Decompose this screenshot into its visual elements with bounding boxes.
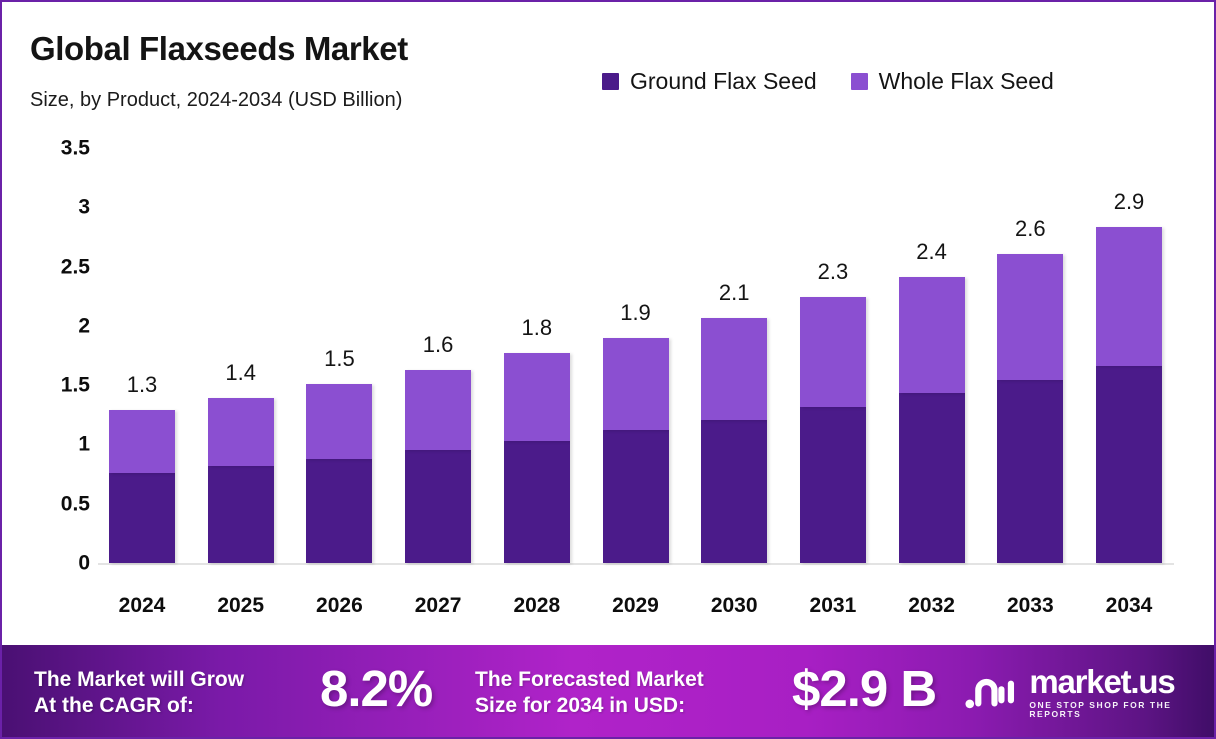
- x-axis-tick-label: 2024: [109, 595, 175, 616]
- bar-segment-ground-flax-seed[interactable]: [899, 393, 965, 563]
- bar-segment-whole-flax-seed[interactable]: [109, 410, 175, 473]
- chart-subtitle: Size, by Product, 2024-2034 (USD Billion…: [30, 90, 402, 110]
- bar-segment-whole-flax-seed[interactable]: [997, 254, 1063, 381]
- bar-segment-ground-flax-seed[interactable]: [208, 466, 274, 563]
- bar-segment-ground-flax-seed[interactable]: [504, 441, 570, 563]
- bar-segment-whole-flax-seed[interactable]: [603, 338, 669, 430]
- bar-total-label: 1.4: [208, 362, 274, 384]
- x-axis-tick-label: 2025: [208, 595, 274, 616]
- bar-group-2024[interactable]: [109, 410, 175, 563]
- legend-label: Ground Flax Seed: [630, 70, 817, 93]
- forecast-caption: The Forecasted Market Size for 2034 in U…: [475, 667, 704, 718]
- square-swatch-icon: [851, 73, 868, 90]
- bar-segment-whole-flax-seed[interactable]: [306, 384, 372, 459]
- bar-group-2033[interactable]: [997, 254, 1063, 563]
- bar-total-label: 1.3: [109, 374, 175, 396]
- bar-segment-ground-flax-seed[interactable]: [800, 407, 866, 564]
- chart-plot-area: 00.511.522.533.5 1.320241.420251.520261.…: [2, 132, 1216, 627]
- x-axis-tick-label: 2032: [899, 595, 965, 616]
- square-swatch-icon: [602, 73, 619, 90]
- chart-card: Global Flaxseeds Market Size, by Product…: [0, 0, 1216, 739]
- x-axis-tick-label: 2026: [306, 595, 372, 616]
- bar-group-2028[interactable]: [504, 353, 570, 563]
- y-axis-tick-label: 3: [18, 197, 90, 218]
- cagr-value: 8.2%: [320, 663, 432, 714]
- bar-group-2027[interactable]: [405, 370, 471, 563]
- bar-segment-ground-flax-seed[interactable]: [997, 380, 1063, 563]
- y-axis-tick-label: 2: [18, 315, 90, 336]
- bar-segment-whole-flax-seed[interactable]: [208, 398, 274, 466]
- bar-group-2025[interactable]: [208, 398, 274, 563]
- bar-group-2031[interactable]: [800, 297, 866, 563]
- x-axis-tick-label: 2034: [1096, 595, 1162, 616]
- chart-header: Global Flaxseeds Market Size, by Product…: [2, 2, 1214, 132]
- legend-item-2[interactable]: Whole Flax Seed: [851, 70, 1054, 93]
- y-axis-tick-label: 0.5: [18, 493, 90, 514]
- footer-banner: The Market will Grow At the CAGR of: 8.2…: [2, 645, 1216, 737]
- y-axis-tick-label: 1: [18, 434, 90, 455]
- x-axis-tick-label: 2033: [997, 595, 1063, 616]
- bar-total-label: 1.5: [306, 348, 372, 370]
- y-axis-tick-label: 1.5: [18, 375, 90, 396]
- bar-segment-ground-flax-seed[interactable]: [701, 420, 767, 563]
- bar-total-label: 2.6: [997, 218, 1063, 240]
- cagr-caption: The Market will Grow At the CAGR of:: [34, 667, 244, 718]
- bar-segment-ground-flax-seed[interactable]: [306, 459, 372, 563]
- bar-group-2029[interactable]: [603, 338, 669, 563]
- bar-segment-ground-flax-seed[interactable]: [405, 450, 471, 563]
- bar-group-2026[interactable]: [306, 384, 372, 563]
- legend-item-1[interactable]: Ground Flax Seed: [602, 70, 817, 93]
- bar-total-label: 2.9: [1096, 191, 1162, 213]
- bar-segment-whole-flax-seed[interactable]: [701, 318, 767, 420]
- bar-group-2034[interactable]: [1096, 227, 1162, 563]
- x-axis-tick-label: 2031: [800, 595, 866, 616]
- x-axis-tick-label: 2028: [504, 595, 570, 616]
- market-us-logo[interactable]: market.us ONE STOP SHOP FOR THE REPORTS: [964, 665, 1216, 718]
- x-axis-tick-label: 2030: [701, 595, 767, 616]
- logo-tagline: ONE STOP SHOP FOR THE REPORTS: [1029, 701, 1216, 718]
- logo-wordmark: market.us ONE STOP SHOP FOR THE REPORTS: [1029, 665, 1216, 718]
- bar-segment-whole-flax-seed[interactable]: [504, 353, 570, 441]
- bar-series-container: 1.320241.420251.520261.620271.820281.920…: [98, 132, 1178, 627]
- y-axis-tick-label: 2.5: [18, 256, 90, 277]
- bar-segment-ground-flax-seed[interactable]: [603, 430, 669, 563]
- bar-group-2032[interactable]: [899, 277, 965, 563]
- bar-segment-whole-flax-seed[interactable]: [800, 297, 866, 406]
- y-axis-tick-label: 0: [18, 553, 90, 574]
- bar-total-label: 2.1: [701, 282, 767, 304]
- bar-segment-whole-flax-seed[interactable]: [1096, 227, 1162, 366]
- bar-segment-whole-flax-seed[interactable]: [405, 370, 471, 451]
- bar-segment-ground-flax-seed[interactable]: [109, 473, 175, 563]
- x-axis-tick-label: 2027: [405, 595, 471, 616]
- logo-name: market.us: [1029, 665, 1216, 698]
- bar-group-2030[interactable]: [701, 318, 767, 563]
- bar-segment-whole-flax-seed[interactable]: [899, 277, 965, 393]
- y-axis: 00.511.522.533.5: [10, 132, 90, 627]
- market-us-wave-icon: [964, 670, 1017, 714]
- chart-legend: Ground Flax SeedWhole Flax Seed: [602, 70, 1054, 93]
- bar-total-label: 2.3: [800, 261, 866, 283]
- forecast-value: $2.9 B: [792, 663, 936, 714]
- legend-label: Whole Flax Seed: [879, 70, 1054, 93]
- bar-total-label: 1.9: [603, 302, 669, 324]
- page-title: Global Flaxseeds Market: [30, 32, 408, 65]
- bar-total-label: 1.6: [405, 334, 471, 356]
- bar-total-label: 1.8: [504, 317, 570, 339]
- y-axis-tick-label: 3.5: [18, 138, 90, 159]
- bar-total-label: 2.4: [899, 241, 965, 263]
- x-axis-tick-label: 2029: [603, 595, 669, 616]
- bar-segment-ground-flax-seed[interactable]: [1096, 366, 1162, 563]
